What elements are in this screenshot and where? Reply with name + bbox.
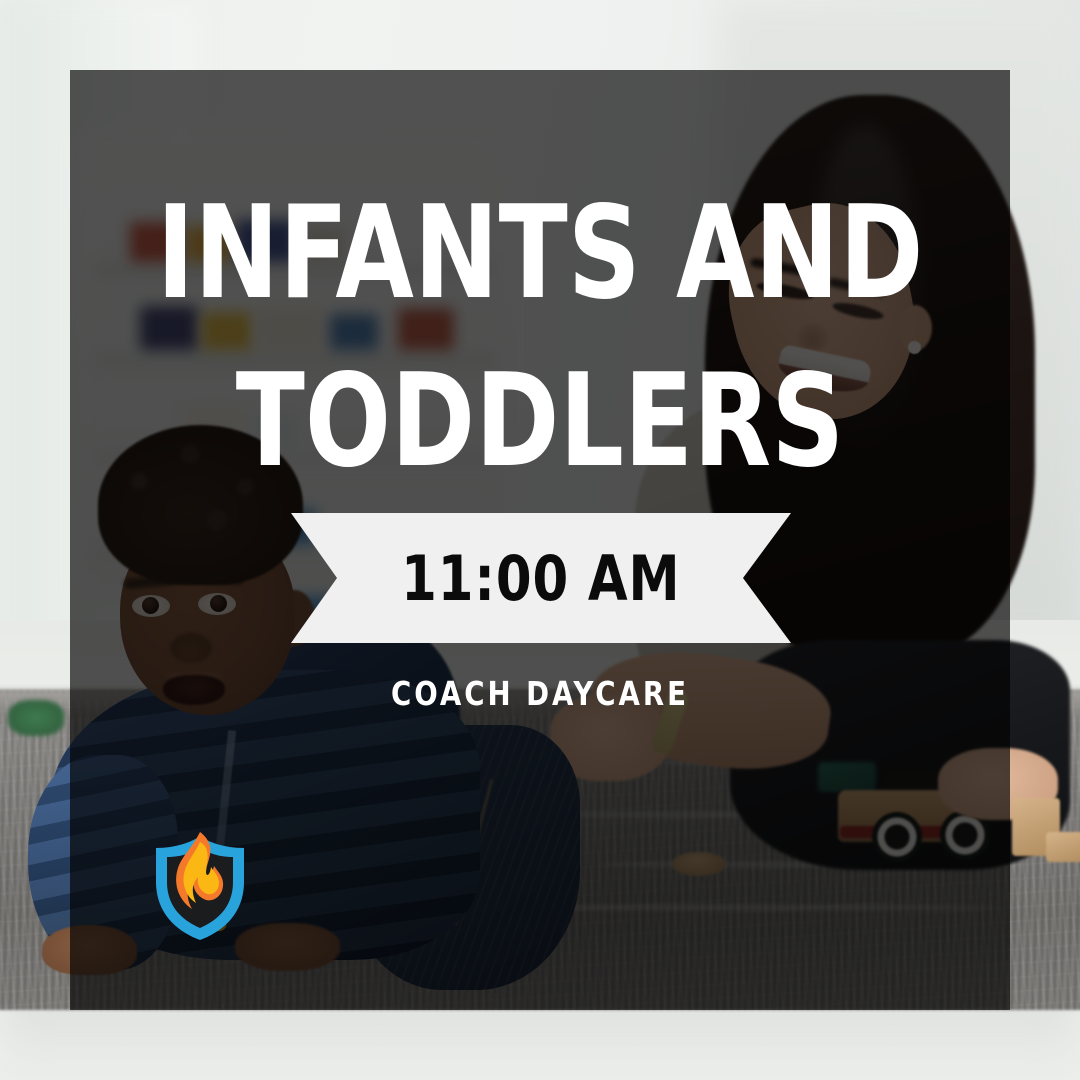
wooden-block <box>1046 832 1080 862</box>
organization-subtitle: COACH DAYCARE <box>103 674 977 713</box>
poster-title-line-2: TODDLERS <box>126 358 953 486</box>
poster-title-line-1: INFANTS AND <box>126 190 953 318</box>
flame-shield-icon <box>152 830 248 942</box>
flame-shield-logo <box>152 830 248 942</box>
poster-content: INFANTS AND TODDLERS 11:00 AM COACH DAYC… <box>70 70 1010 1010</box>
time-ribbon-banner: 11:00 AM <box>291 513 791 643</box>
time-label: 11:00 AM <box>401 542 680 615</box>
